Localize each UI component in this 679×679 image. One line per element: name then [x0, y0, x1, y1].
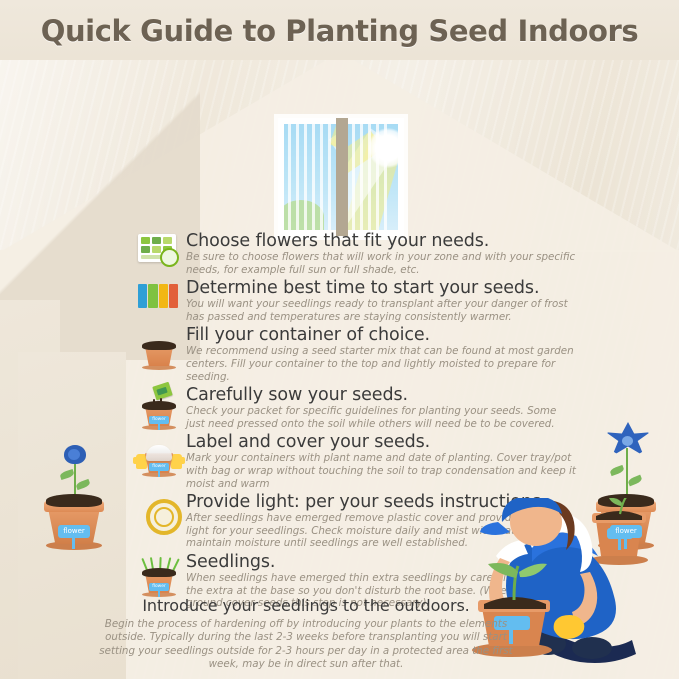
blind-slat — [288, 124, 291, 230]
blind-slat — [296, 124, 299, 230]
plastic-cover — [146, 445, 172, 461]
flower-highlight — [68, 449, 80, 460]
window-pane-right — [348, 124, 398, 230]
step-item: Choose flowers that fit your needs. Be s… — [136, 230, 576, 276]
soil-mound — [142, 568, 176, 577]
step-heading: Determine best time to start your seeds. — [186, 278, 576, 298]
glove-icon — [171, 454, 182, 469]
step-body: Be sure to choose flowers that will work… — [186, 251, 576, 276]
filled-flower-pot-icon — [136, 324, 182, 368]
step-body: You will want your seedlings ready to tr… — [186, 298, 576, 323]
blind-slat — [352, 124, 355, 230]
blind-slat — [360, 124, 363, 230]
boot-right — [572, 637, 612, 659]
blind-slat — [368, 124, 371, 230]
pot-label-tag: flower — [58, 525, 90, 538]
step-heading: Fill your container of choice. — [186, 325, 576, 345]
blind-slat — [376, 124, 379, 230]
step-body: Check your packet for specific guideline… — [186, 405, 576, 430]
cap-brim — [480, 522, 510, 535]
flower-stem — [626, 448, 628, 500]
pot-label-tag: flower — [149, 463, 169, 471]
step-heading: Carefully sow your seeds. — [186, 385, 576, 405]
four-seasons-calendar-icon — [136, 277, 182, 321]
step-item: flower Label and cover your seeds. Mark … — [136, 431, 576, 490]
step-body: We recommend using a seed starter mix th… — [186, 345, 576, 383]
flower-center — [622, 436, 633, 446]
step-text: Carefully sow your seeds. Check your pac… — [186, 384, 576, 430]
soil-mound — [46, 494, 102, 507]
step-text: Label and cover your seeds. Mark your co… — [186, 431, 576, 490]
light-ring — [146, 499, 182, 535]
step-text: Choose flowers that fit your needs. Be s… — [186, 230, 576, 276]
pot-label-tag: flower — [149, 583, 169, 591]
blind-slat — [320, 124, 323, 230]
soil-mound — [142, 341, 176, 350]
infographic-canvas: Quick Guide to Planting Seed Indoors — [0, 0, 679, 679]
pot-saucer — [142, 365, 176, 370]
blind-slat — [312, 124, 315, 230]
bottom-body: Begin the process of hardening off by in… — [96, 618, 516, 672]
window-illustration — [278, 118, 404, 236]
step-text: Fill your container of choice. We recomm… — [186, 324, 576, 383]
step-item: flower Carefully sow your seeds. Check y… — [136, 384, 576, 430]
window-pane-left — [284, 124, 336, 230]
magnifier-icon — [160, 248, 179, 267]
step-heading: Label and cover your seeds. — [186, 432, 576, 452]
seedlings-in-pot-icon: flower — [136, 551, 182, 595]
seed-catalog-icon — [136, 230, 182, 274]
step-heading: Choose flowers that fit your needs. — [186, 231, 576, 251]
page-title: Quick Guide to Planting Seed Indoors — [0, 14, 679, 48]
blind-slat — [328, 124, 331, 230]
window-mullion — [336, 118, 348, 236]
bottom-section: Introduce your seedlings to the outdoors… — [96, 596, 516, 672]
sun-light-ring-icon — [136, 491, 182, 535]
left-flower-pot: flower — [48, 490, 104, 552]
blind-slat — [384, 124, 387, 230]
step-item: Fill your container of choice. We recomm… — [136, 324, 576, 383]
soil-mound — [142, 401, 176, 410]
season-panels — [138, 284, 178, 308]
pot-label-tag: flower — [149, 416, 169, 424]
step-text: Determine best time to start your seeds.… — [186, 277, 576, 323]
gloves-covering-pot-icon: flower — [136, 431, 182, 475]
pot-label-tag: flower — [610, 525, 642, 538]
step-body: Mark your containers with plant name and… — [186, 452, 576, 490]
bottom-heading: Introduce your seedlings to the outdoors… — [96, 596, 516, 616]
seed-packet-pouring-icon: flower — [136, 384, 182, 428]
blind-slat — [304, 124, 307, 230]
step-item: Determine best time to start your seeds.… — [136, 277, 576, 323]
